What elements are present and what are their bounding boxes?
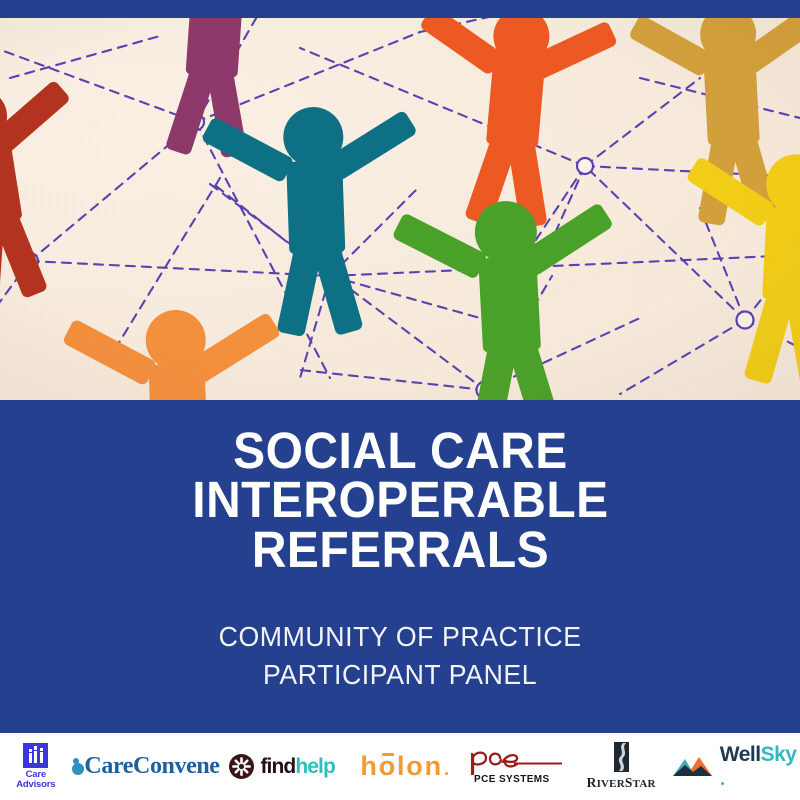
paper-people-network-photo [0,18,800,400]
figure-teal [212,98,420,330]
holon-wordmark: holon [360,751,448,782]
care-advisors-line-2: Advisors [16,780,55,790]
pce-systems-wordmark: PCE SYSTEMS [474,774,550,785]
findhelp-word-find: find [260,755,295,778]
riverstar-cap-s: S [625,775,633,790]
headline-line-2: INTEROPERABLE [192,475,608,524]
subtitle-line-1: COMMUNITY OF PRACTICE [219,618,582,655]
care-advisors-square-icon [23,743,48,768]
sponsor-logo-bar: Care Advisors CareConvene [0,733,800,800]
logo-careconvene[interactable]: CareConvene [72,753,220,780]
findhelp-wordmark: findhelp [260,755,334,779]
care-advisors-i-3 [40,752,43,763]
wellsky-word-well: Well [720,743,761,766]
holon-period-icon [445,772,449,776]
findhelp-word-help: help [295,755,335,778]
pce-script-icon [470,749,566,775]
care-advisors-i-1 [29,753,32,763]
riverstar-column-icon [614,742,629,772]
riverstar-wordmark: RIVERSTAR [587,775,656,791]
logo-findhelp[interactable]: findhelp [220,754,345,779]
wellsky-mountain-icon [673,755,713,778]
top-blue-bar [0,0,800,18]
findhelp-asterisk-circle-icon [229,754,254,779]
logo-holon[interactable]: holon [345,751,464,782]
findhelp-asterisk-glyph [229,754,254,779]
page-subtitle: COMMUNITY OF PRACTICE PARTICIPANT PANEL [219,618,582,693]
wellsky-period-icon [721,782,724,785]
riverstar-iver: IVER [597,778,625,790]
title-block: SOCIAL CARE INTEROPERABLE REFERRALS COMM… [0,400,800,733]
riverstar-tar: TAR [633,778,656,790]
pce-script-glyph [470,749,566,775]
wellsky-wordmark: WellSky [720,743,800,791]
careconvene-wordmark: CareConvene [84,753,219,780]
careconvene-dot-large [72,763,84,775]
riverstar-cap-r: R [587,775,597,790]
headline-line-1: SOCIAL CARE [192,426,608,475]
logo-pce-systems[interactable]: PCE SYSTEMS [464,749,569,785]
figure-orange [75,303,282,400]
headline-line-3: REFERRALS [192,525,608,574]
logo-wellsky[interactable]: WellSky [673,743,800,791]
page-title: SOCIAL CARE INTEROPERABLE REFERRALS [192,426,608,574]
figure-green [404,191,616,400]
holon-word: holon [360,751,442,781]
wellsky-mountain-glyph [673,755,713,778]
wellsky-word-sky: Sky [761,743,797,766]
careconvene-dots-icon [72,758,80,775]
figure-yellow [686,143,800,383]
subtitle-line-2: PARTICIPANT PANEL [219,656,582,693]
poster-canvas: SOCIAL CARE INTEROPERABLE REFERRALS COMM… [0,0,800,800]
care-advisors-i-2 [34,751,37,764]
logo-riverstar[interactable]: RIVERSTAR [569,742,672,791]
holon-macron-icon [382,753,394,756]
riverstar-river-glyph [614,742,629,772]
logo-care-advisors[interactable]: Care Advisors [0,743,72,789]
care-advisors-wordmark: Care Advisors [16,770,55,789]
